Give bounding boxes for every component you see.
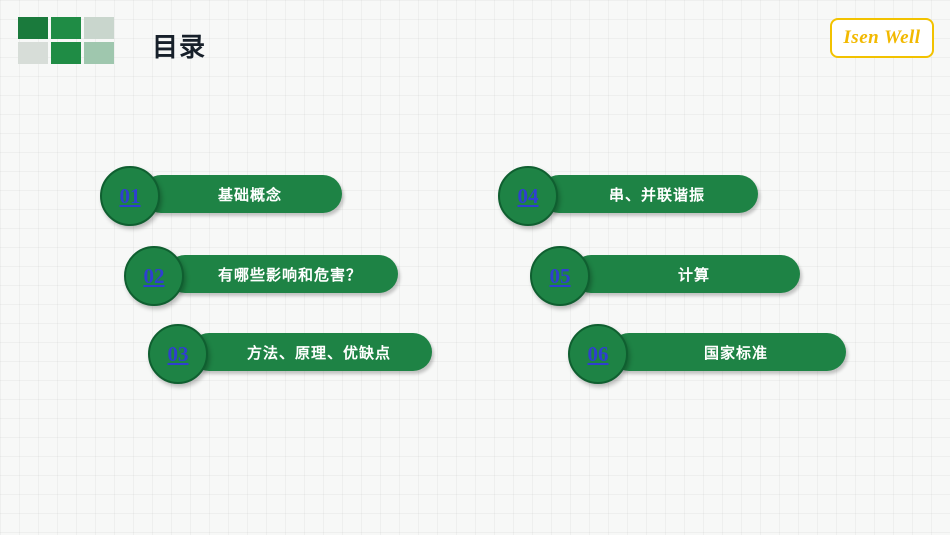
toc-item-pill[interactable]: 计算 <box>572 255 800 293</box>
toc-item-pill[interactable]: 国家标准 <box>610 333 846 371</box>
toc-item-number-circle[interactable]: 03 <box>148 324 208 384</box>
toc-item-number: 01 <box>120 184 141 209</box>
toc-item-number-circle[interactable]: 04 <box>498 166 558 226</box>
toc-item-number: 06 <box>588 342 609 367</box>
toc-item-pill[interactable]: 有哪些影响和危害？ <box>166 255 398 293</box>
toc-item-number: 03 <box>168 342 189 367</box>
toc-item-number: 04 <box>518 184 539 209</box>
toc-item-label: 方法、原理、优缺点 <box>213 342 409 363</box>
toc-item-pill[interactable]: 基础概念 <box>142 175 342 213</box>
toc-item-pill[interactable]: 方法、原理、优缺点 <box>190 333 432 371</box>
toc-item-number-circle[interactable]: 05 <box>530 246 590 306</box>
toc-menu: 基础概念01有哪些影响和危害？02方法、原理、优缺点03串、并联谐振04计算05… <box>0 0 950 535</box>
toc-item-label: 计算 <box>644 264 728 285</box>
toc-item-number: 05 <box>550 264 571 289</box>
toc-item-label: 串、并联谐振 <box>575 184 723 205</box>
toc-item-label: 基础概念 <box>184 184 300 205</box>
toc-item-label: 国家标准 <box>670 342 786 363</box>
toc-item-pill[interactable]: 串、并联谐振 <box>540 175 758 213</box>
toc-item-label: 有哪些影响和危害？ <box>184 264 380 285</box>
toc-item-number: 02 <box>144 264 165 289</box>
toc-item-number-circle[interactable]: 02 <box>124 246 184 306</box>
toc-item-number-circle[interactable]: 01 <box>100 166 160 226</box>
toc-item-number-circle[interactable]: 06 <box>568 324 628 384</box>
